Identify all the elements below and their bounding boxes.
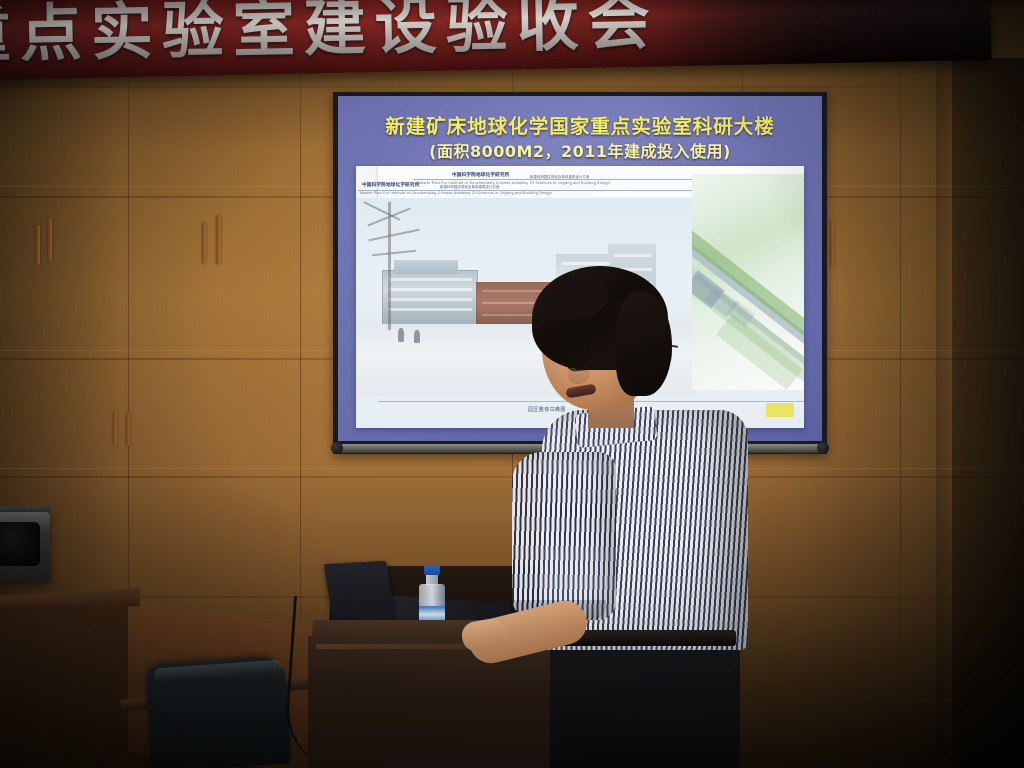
- cabinet-handle[interactable]: [36, 225, 40, 265]
- presenter-trousers: [550, 636, 740, 768]
- sheet-header-cn-top: 中国科学院地球化学研究所: [452, 172, 510, 178]
- footer-chip: [766, 403, 794, 417]
- banner-text: 重点实验室建设验收会: [0, 0, 659, 71]
- cabinet-handle[interactable]: [202, 222, 206, 264]
- sheet-header-cn: 中国科学院地球化学研究所: [362, 182, 420, 188]
- foreground-tree: [358, 202, 428, 332]
- presenter-mouth: [565, 383, 596, 398]
- projector-unit: [0, 512, 50, 582]
- slide-title: 新建矿床地球化学国家重点实验室科研大楼: [338, 110, 822, 139]
- cabinet-handle[interactable]: [126, 412, 130, 446]
- cabinet-handle[interactable]: [48, 218, 52, 262]
- projector-lens: [0, 522, 40, 566]
- sheet-header-cn-small-top: 新建科研园区规划及单体建筑设计方案: [530, 174, 589, 179]
- bottle-neck: [426, 575, 438, 585]
- presenter: [520, 270, 750, 768]
- presentation-room-photo: 新建矿床地球化学国家重点实验室科研大楼 (面积8000M2，2011年建成投入使…: [0, 0, 1024, 768]
- cabinet-handle[interactable]: [830, 222, 834, 268]
- screen-end-cap-left: [331, 442, 343, 454]
- figure: [414, 330, 420, 343]
- sheet-header-cn-small: 新建科研园区规划及单体建筑设计方案: [440, 184, 499, 189]
- presenter-hair-side: [616, 292, 672, 396]
- screen-end-cap-right: [817, 442, 829, 454]
- wall-vseam: [900, 0, 901, 768]
- figure: [398, 328, 404, 342]
- wall-column-shadow: [936, 58, 952, 768]
- presenter-arm: [512, 452, 616, 620]
- wall-dark-column: [952, 58, 1024, 768]
- banner-fade: [660, 0, 992, 67]
- slide-subtitle: (面积8000M2，2011年建成投入使用): [338, 138, 822, 162]
- cabinet-handle[interactable]: [113, 412, 117, 446]
- bottle-cap[interactable]: [424, 565, 440, 575]
- cabinet-handle[interactable]: [216, 216, 221, 264]
- side-table-body: [0, 606, 128, 768]
- sheet-header-en: Master Plan For Institute of Geochemistr…: [360, 191, 552, 195]
